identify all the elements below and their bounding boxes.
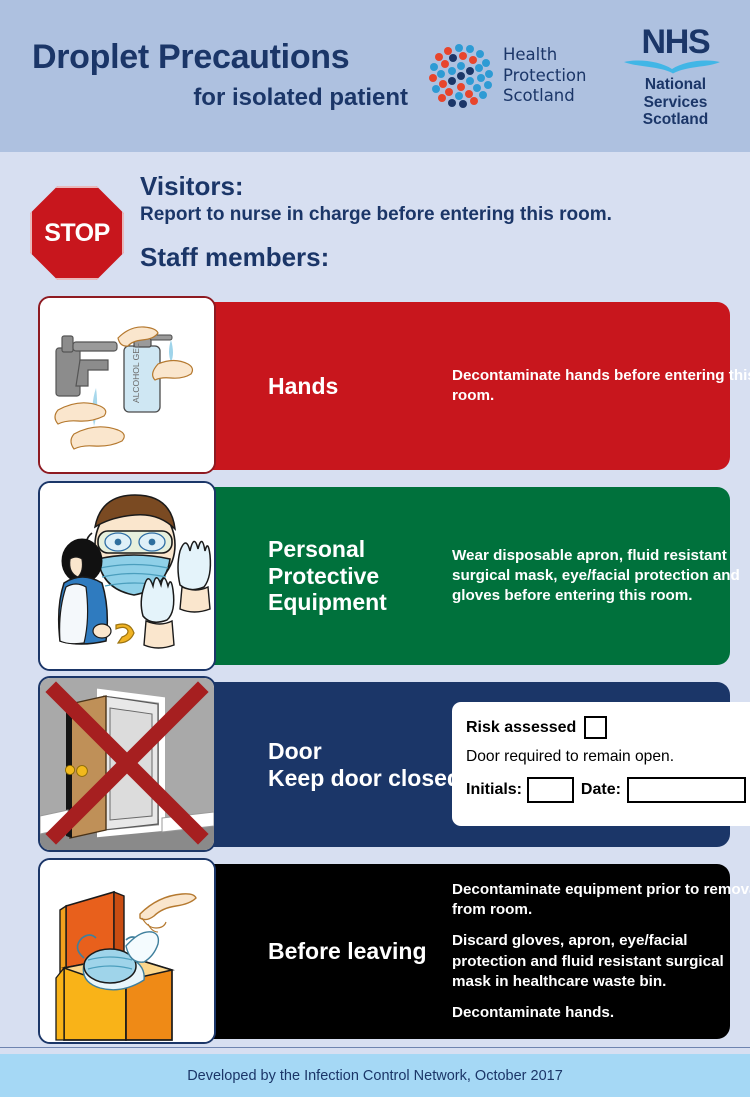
visitors-instruction: Report to nurse in charge before enterin… <box>140 204 612 226</box>
row-body-before-leaving: Decontaminate equipment prior to removal… <box>452 880 750 1022</box>
row-label-ppe: Personal Protective Equipment <box>268 536 387 616</box>
poster-root: Droplet Precautions for isolated patient… <box>0 0 750 1097</box>
ppe-label-line-1: Personal <box>268 536 387 563</box>
before-leaving-instruction-3: Decontaminate hands. <box>452 1003 750 1023</box>
alcohol-gel-label: ALCOHOL GEL <box>131 343 141 403</box>
row-hands: ALCOHOL GEL Hands Decontaminate hands be… <box>40 302 730 470</box>
row-label-hands: Hands <box>268 373 338 400</box>
stop-sign-label: STOP <box>44 219 110 248</box>
visitors-heading: Visitors: <box>140 172 612 201</box>
ppe-label-line-3: Equipment <box>268 589 387 616</box>
page-subtitle: for isolated patient <box>32 84 420 112</box>
door-note: Keep door closed <box>268 765 461 792</box>
door-open-statement: Door required to remain open. <box>466 748 746 766</box>
title-block: Droplet Precautions for isolated patient <box>0 40 420 113</box>
nhs-sub-text: National Services Scotland <box>616 76 734 129</box>
stop-octagon-icon: STOP <box>30 186 124 280</box>
hps-line-1: Health <box>503 45 586 66</box>
hps-dot-circle-icon <box>428 43 494 109</box>
risk-assessed-checkbox[interactable] <box>584 716 607 739</box>
ppe-label-line-2: Protective <box>268 563 387 590</box>
staff-members-heading: Staff members: <box>140 242 612 273</box>
row-body-ppe: Wear disposable apron, fluid resistant s… <box>452 546 750 606</box>
row-before-leaving: Before leaving Decontaminate equipment p… <box>40 864 730 1039</box>
risk-assessed-line: Risk assessed <box>466 716 746 739</box>
stop-sign: STOP <box>30 186 124 280</box>
nhs-sub-2: Services <box>616 94 734 112</box>
nhs-sub-1: National <box>616 76 734 94</box>
date-label: Date: <box>581 781 621 799</box>
health-protection-scotland-logo: Health Protection Scotland <box>428 43 586 109</box>
hands-instruction: Decontaminate hands before entering this… <box>452 366 750 406</box>
initials-label: Initials: <box>466 781 522 799</box>
row-ppe: Personal Protective Equipment Wear dispo… <box>40 487 730 665</box>
row-body-hands: Decontaminate hands before entering this… <box>452 366 750 406</box>
nhs-national-services-scotland-logo: NHS National Services Scotland <box>616 23 734 129</box>
hand-hygiene-illustration: ALCOHOL GEL <box>38 296 216 474</box>
initials-date-line: Initials: Date: <box>466 777 746 803</box>
hps-line-2: Protection <box>503 66 586 87</box>
nhs-sub-3: Scotland <box>616 111 734 129</box>
before-leaving-instruction-1: Decontaminate equipment prior to removal… <box>452 880 750 920</box>
ppe-instruction: Wear disposable apron, fluid resistant s… <box>452 546 750 606</box>
hps-logo-text: Health Protection Scotland <box>503 45 586 107</box>
initials-input[interactable] <box>527 777 574 803</box>
row-label-before-leaving: Before leaving <box>268 938 427 965</box>
poster-footer: Developed by the Infection Control Netwo… <box>0 1054 750 1097</box>
hps-line-3: Scotland <box>503 86 586 107</box>
poster-header: Droplet Precautions for isolated patient… <box>0 0 750 152</box>
visitors-section: STOP Visitors: Report to nurse in charge… <box>0 152 750 294</box>
visitors-text-block: Visitors: Report to nurse in charge befo… <box>140 172 612 273</box>
door-risk-assessment-form[interactable]: Risk assessed Door required to remain op… <box>452 702 750 826</box>
waste-bin-illustration <box>38 858 216 1044</box>
door-label: Door <box>268 738 461 765</box>
page-title: Droplet Precautions <box>32 40 420 76</box>
footer-divider <box>0 1047 750 1054</box>
risk-assessed-label: Risk assessed <box>466 719 576 737</box>
row-door: Door Keep door closed Risk assessed Door… <box>40 682 730 847</box>
footer-credit: Developed by the Infection Control Netwo… <box>187 1068 563 1084</box>
before-leaving-instruction-2: Discard gloves, apron, eye/facial protec… <box>452 931 750 991</box>
nhs-wordmark: NHS <box>616 23 734 62</box>
ppe-illustration <box>38 481 216 671</box>
door-closed-illustration <box>38 676 216 852</box>
row-label-door: Door Keep door closed <box>268 738 461 791</box>
date-input[interactable] <box>627 777 746 803</box>
nhs-swoosh-icon <box>616 60 734 75</box>
